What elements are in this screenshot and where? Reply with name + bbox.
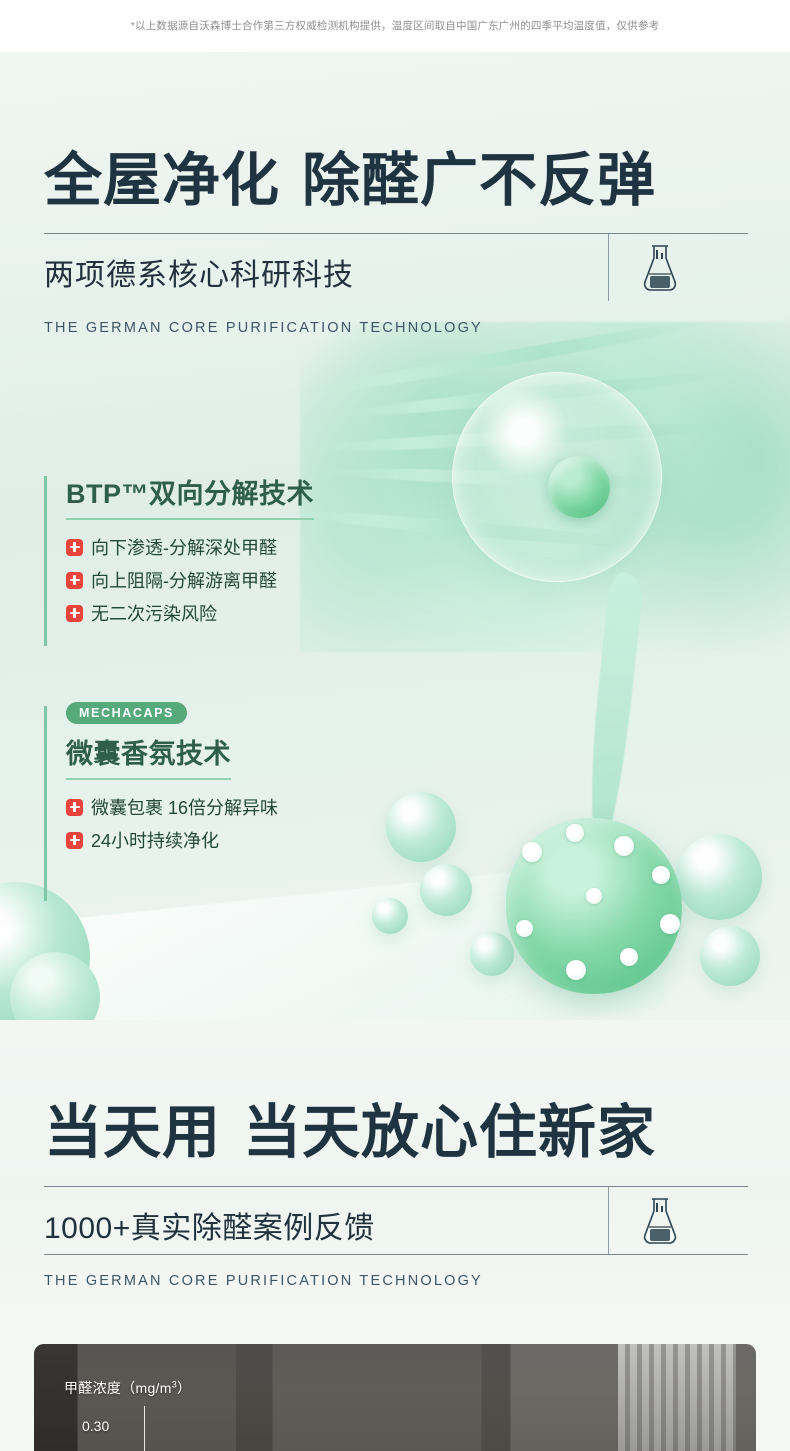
list-item: 24小时持续净化 — [66, 827, 278, 853]
feature-accent-bar — [44, 476, 47, 646]
divider-bottom — [44, 1254, 748, 1255]
feature-title: 微囊香氛技术 — [66, 732, 231, 780]
section-measurement-photo: 甲醛浓度（mg/m3） 0.30 — [0, 1330, 790, 1451]
feature-block-mechacaps: MECHACAPS 微囊香氛技术 微囊包裹 16倍分解异味 24小时持续净化 — [44, 702, 278, 860]
product-detail-page: *以上数据源自沃森博士合作第三方权威检测机构提供，温度区间取自中国广东广州的四季… — [0, 0, 790, 1451]
flask-icon — [636, 242, 684, 292]
plus-icon — [66, 832, 83, 849]
plus-icon — [66, 539, 83, 556]
plus-icon — [66, 605, 83, 622]
eyebrow-english: THE GERMAN CORE PURIFICATION TECHNOLOGY — [44, 320, 483, 336]
section-case-feedback: 当天用当天放心住新家 1000+真实除醛案例反馈 THE GERMAN CORE… — [0, 1020, 790, 1330]
headline-part-2: 除醛广不反弹 — [302, 148, 656, 213]
footnote-text: *以上数据源自沃森博士合作第三方权威检测机构提供，温度区间取自中国广东广州的四季… — [131, 18, 660, 33]
divider-top — [44, 233, 748, 234]
list-item: 微囊包裹 16倍分解异味 — [66, 794, 278, 820]
feature-bullets: 微囊包裹 16倍分解异味 24小时持续净化 — [66, 794, 278, 853]
headline2-part-2: 当天放心住新家 — [243, 1100, 656, 1165]
feature-accent-bar — [44, 706, 47, 901]
feature-bullets: 向下渗透-分解深处甲醛 向上阻隔-分解游离甲醛 无二次污染风险 — [66, 534, 314, 626]
list-item-label: 向上阻隔-分解游离甲醛 — [91, 567, 277, 593]
list-item-label: 微囊包裹 16倍分解异味 — [91, 794, 278, 820]
list-item: 向下渗透-分解深处甲醛 — [66, 534, 314, 560]
plus-icon — [66, 799, 83, 816]
subtitle: 两项德系核心科研科技 — [44, 250, 354, 294]
chart-axis-label: 甲醛浓度（mg/m3） — [64, 1378, 191, 1398]
divider-vertical — [608, 1187, 609, 1254]
room-photo-card: 甲醛浓度（mg/m3） 0.30 — [34, 1344, 756, 1451]
chart-axis-label-text: 甲醛浓度（mg/m — [64, 1380, 172, 1396]
chart-axis-label-tail: ） — [177, 1380, 191, 1396]
subtitle-secondary: 1000+真实除醛案例反馈 — [44, 1203, 375, 1247]
list-item-label: 无二次污染风险 — [91, 600, 217, 626]
page-title: 全屋净化除醛广不反弹 — [44, 152, 656, 210]
headline-part-1: 全屋净化 — [44, 148, 280, 213]
list-item: 无二次污染风险 — [66, 600, 314, 626]
list-item-label: 24小时持续净化 — [91, 827, 219, 853]
footnote-strip: *以上数据源自沃森博士合作第三方权威检测机构提供，温度区间取自中国广东广州的四季… — [0, 0, 790, 52]
status-badge: MECHACAPS — [66, 702, 187, 724]
flask-icon — [636, 1195, 684, 1245]
chart-y-axis — [144, 1406, 145, 1451]
page-title-secondary: 当天用当天放心住新家 — [44, 1104, 656, 1162]
list-item-label: 向下渗透-分解深处甲醛 — [91, 534, 277, 560]
plus-icon — [66, 572, 83, 589]
list-item: 向上阻隔-分解游离甲醛 — [66, 567, 314, 593]
section-purification-technology: 全屋净化除醛广不反弹 两项德系核心科研科技 THE — [0, 52, 790, 1020]
feature-block-btp: BTP™双向分解技术 向下渗透-分解深处甲醛 向上阻隔-分解游离甲醛 无二次污染… — [44, 472, 314, 633]
headline2-part-1: 当天用 — [44, 1100, 221, 1165]
eyebrow-english-secondary: THE GERMAN CORE PURIFICATION TECHNOLOGY — [44, 1273, 483, 1289]
divider-vertical — [608, 234, 609, 301]
chart-tick-label: 0.30 — [82, 1418, 109, 1434]
divider-top — [44, 1186, 748, 1187]
feature-title: BTP™双向分解技术 — [66, 472, 314, 520]
